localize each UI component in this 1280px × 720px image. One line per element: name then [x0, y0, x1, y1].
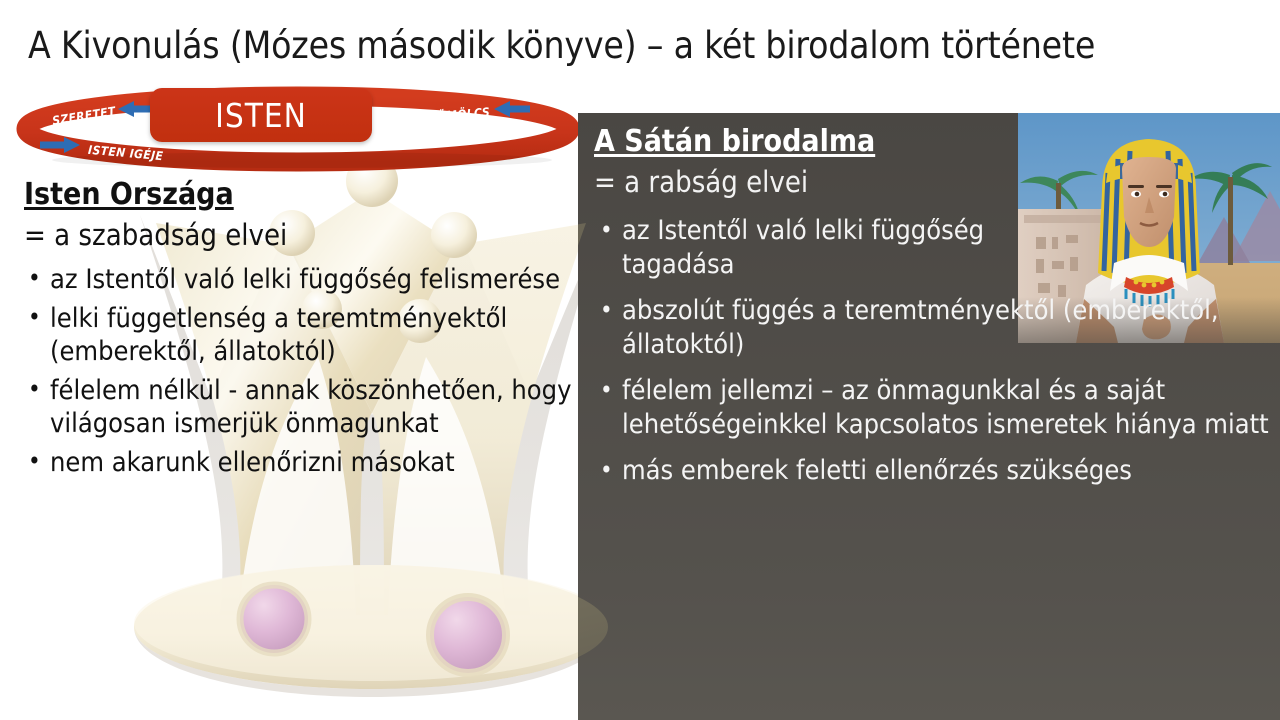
isten-label: ISTEN	[215, 96, 307, 135]
left-subheading: = a szabadság elvei	[24, 215, 584, 255]
page-title: A Kivonulás (Mózes második könyve) – a k…	[28, 20, 1258, 72]
right-heading-wrap: A Sátán birodalma	[594, 123, 1270, 161]
list-item: az Istentől való lelki függőség tagadása	[594, 214, 1052, 282]
right-heading: A Sátán birodalma	[594, 123, 875, 161]
left-column: Isten Országa = a szabadság elvei az Ist…	[24, 176, 584, 485]
right-subheading: = a rabság elvei	[594, 162, 1270, 202]
left-heading: Isten Országa	[24, 176, 234, 214]
list-item: félelem jellemzi – az önmagunkkal és a s…	[594, 374, 1280, 442]
list-item: az Istentől való lelki függőség felismer…	[24, 263, 584, 296]
left-bullet-list: az Istentől való lelki függőség felismer…	[24, 263, 584, 479]
list-item: más emberek feletti ellenőrzés szükséges	[594, 454, 1280, 488]
list-item: nem akarunk ellenőrizni másokat	[24, 446, 584, 479]
slide-root: A Kivonulás (Mózes második könyve) – a k…	[0, 0, 1280, 720]
right-dark-panel: A Sátán birodalma = a rabság elvei az Is…	[578, 113, 1280, 720]
list-item: abszolút függés a teremtményektől (ember…	[594, 294, 1280, 362]
isten-center-box: ISTEN	[150, 88, 372, 142]
list-item: félelem nélkül - annak köszönhetően, hog…	[24, 374, 584, 440]
right-bullet-list: az Istentől való lelki függőség tagadása…	[594, 214, 1270, 488]
right-column: A Sátán birodalma = a rabság elvei az Is…	[594, 123, 1270, 500]
list-item: lelki függetlenség a teremtményektől (em…	[24, 302, 584, 368]
left-heading-wrap: Isten Országa	[24, 176, 584, 214]
